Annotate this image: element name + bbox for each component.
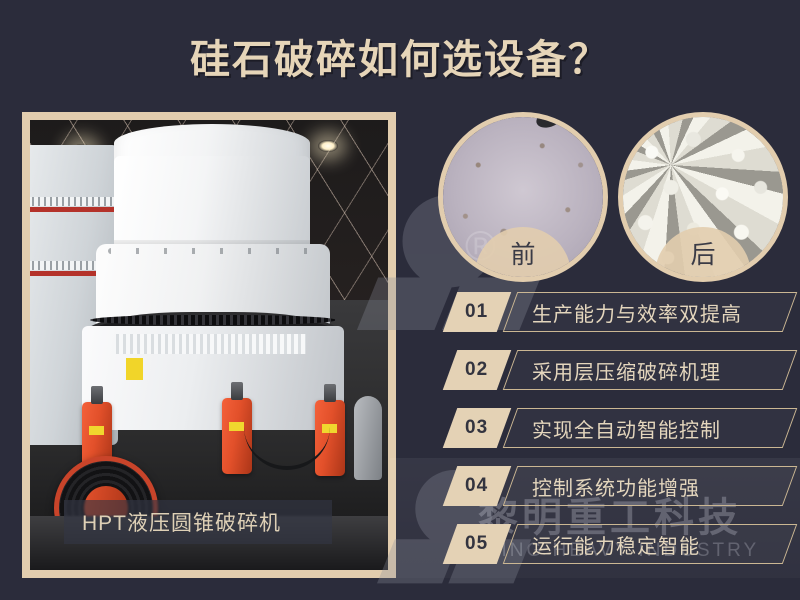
- feature-number-badge: 02: [443, 350, 512, 390]
- feature-text: 运行能力稳定智能: [532, 524, 700, 564]
- before-after-comparison: ® 前 后: [410, 112, 800, 284]
- hydraulic-accumulator: [354, 396, 382, 480]
- feature-number: 03: [465, 417, 488, 439]
- feature-text: 实现全自动智能控制: [532, 408, 721, 448]
- mill-red-band: [30, 207, 118, 212]
- poster-canvas: 硅石破碎如何选设备？: [0, 0, 800, 600]
- crusher-drum: [114, 156, 310, 250]
- feature-item[interactable]: 05 运行能力稳定智能: [450, 524, 790, 564]
- feature-list: 01 生产能力与效率双提高 02 采用层压缩破碎机理 03 实现全自动智能控制: [450, 292, 790, 582]
- crusher-bolt-row: [108, 248, 318, 254]
- feature-number: 01: [465, 301, 488, 323]
- feature-number-badge: 05: [443, 524, 512, 564]
- feature-item[interactable]: 02 采用层压缩破碎机理: [450, 350, 790, 390]
- feature-item[interactable]: 03 实现全自动智能控制: [450, 408, 790, 448]
- ceiling-lamp-icon: [318, 140, 338, 152]
- warning-label: [126, 358, 143, 380]
- feature-number-badge: 03: [443, 408, 512, 448]
- feature-item[interactable]: 04 控制系统功能增强: [450, 466, 790, 506]
- feature-text: 生产能力与效率双提高: [532, 292, 742, 332]
- feature-text: 控制系统功能增强: [532, 466, 700, 506]
- feature-number: 05: [465, 533, 488, 555]
- before-circle: ® 前: [438, 112, 608, 282]
- machine-photo-frame: HPT液压圆锥破碎机: [22, 112, 396, 578]
- crusher-cooling-fins: [116, 334, 306, 354]
- right-column: 黎明重工科技 LIMING HEAVY INDUSTRY ® 前 后 01: [410, 0, 800, 600]
- machine-photo: HPT液压圆锥破碎机: [30, 120, 388, 570]
- after-circle: 后: [618, 112, 788, 282]
- feature-text: 采用层压缩破碎机理: [532, 350, 721, 390]
- feature-number-badge: 01: [443, 292, 512, 332]
- feature-number: 02: [465, 359, 488, 381]
- mill-teeth: [30, 197, 118, 206]
- feature-item[interactable]: 01 生产能力与效率双提高: [450, 292, 790, 332]
- feature-number-badge: 04: [443, 466, 512, 506]
- photo-caption: HPT液压圆锥破碎机: [64, 500, 332, 544]
- feature-number: 04: [465, 475, 488, 497]
